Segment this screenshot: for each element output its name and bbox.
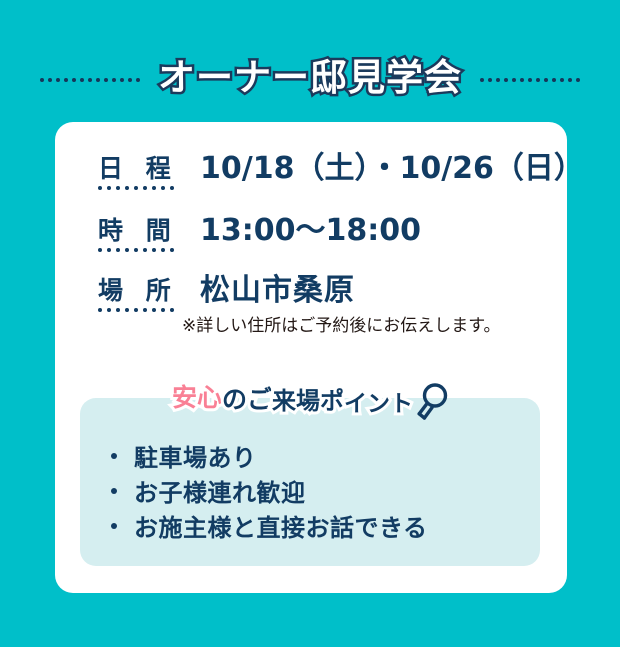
header: オーナー邸見学会	[0, 52, 620, 106]
list-item: 駐車場あり	[80, 438, 540, 473]
points-heading: 安心 のご 来場ポ イント	[80, 376, 540, 420]
points-heading-part-4: イント	[344, 393, 413, 416]
info-label-time-text: 時 間	[98, 216, 178, 245]
list-item-label: 駐車場あり	[134, 438, 257, 473]
info-label-place: 場 所	[98, 274, 182, 308]
bullet-dot-icon	[111, 453, 117, 459]
points-heading-part-3: 来場ポ	[272, 389, 344, 413]
bullet-dot-icon	[111, 523, 117, 529]
magnifier-icon	[414, 382, 448, 422]
label-dotted-underline	[98, 248, 174, 252]
info-row-place: 場 所 松山市桑原 ※詳しい住所はご予約後にお伝えします。	[98, 274, 501, 338]
info-value-schedule: 10/18（土）・10/26（日）	[200, 152, 584, 186]
list-item: お施主様と直接お話できる	[80, 508, 540, 543]
label-dotted-underline	[98, 308, 174, 312]
info-value-place-group: 松山市桑原 ※詳しい住所はご予約後にお伝えします。	[182, 274, 501, 338]
info-value-time: 13:00〜18:00	[200, 214, 421, 248]
page-title: オーナー邸見学会	[158, 59, 462, 99]
info-label-schedule: 日 程	[98, 152, 182, 186]
info-note-place: ※詳しい住所はご予約後にお伝えします。	[182, 314, 501, 338]
list-item: お子様連れ歓迎	[80, 473, 540, 508]
info-label-schedule-text: 日 程	[98, 154, 178, 183]
flyer-root: オーナー邸見学会 日 程 10/18（土）・10/26（日） 時 間 13:00…	[0, 0, 620, 647]
info-row-time: 時 間 13:00〜18:00	[98, 214, 421, 248]
dotted-rule-left	[40, 78, 140, 82]
points-list: 駐車場あり お子様連れ歓迎 お施主様と直接お話できる	[80, 438, 540, 543]
dotted-rule-right	[480, 78, 580, 82]
points-box: 安心 のご 来場ポ イント 駐車場あり	[80, 398, 540, 566]
info-label-time: 時 間	[98, 214, 182, 248]
list-item-label: お施主様と直接お話できる	[134, 508, 428, 543]
list-item-label: お子様連れ歓迎	[134, 473, 306, 508]
info-value-place: 松山市桑原	[200, 274, 501, 308]
info-row-schedule: 日 程 10/18（土）・10/26（日）	[98, 152, 584, 186]
info-label-place-text: 場 所	[98, 276, 178, 305]
bullet-dot-icon	[111, 488, 117, 494]
points-heading-part-2: のご	[222, 387, 272, 412]
label-dotted-underline	[98, 186, 174, 190]
info-panel: 日 程 10/18（土）・10/26（日） 時 間 13:00〜18:00 場 …	[55, 122, 567, 593]
points-heading-accent: 安心	[172, 385, 222, 410]
